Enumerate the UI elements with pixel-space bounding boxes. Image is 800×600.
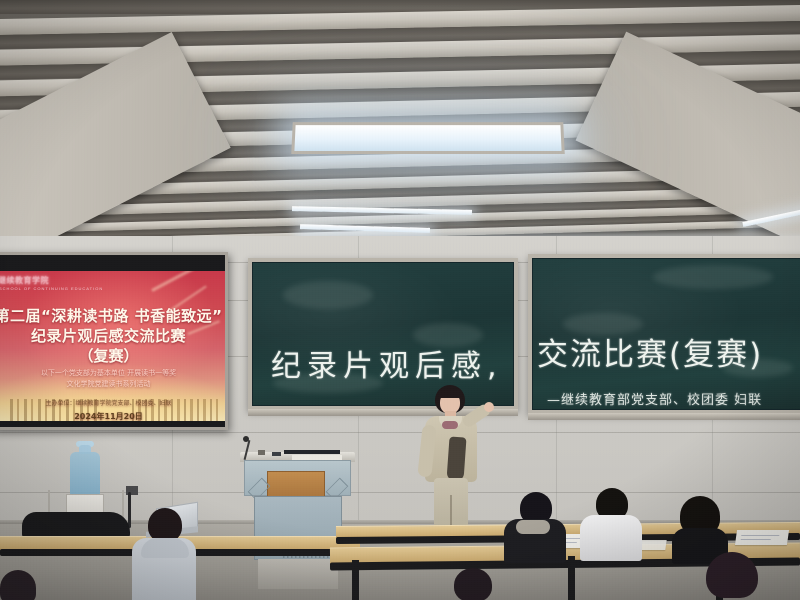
student-head [706, 552, 758, 598]
student-head [0, 570, 36, 600]
student-head [148, 508, 182, 542]
podium-notebook [292, 455, 342, 460]
ceiling [0, 0, 800, 252]
podium-clicker [258, 450, 265, 455]
slide-title-line-2: 纪录片观后感交流比赛 [0, 325, 225, 346]
microphone-icon [243, 436, 249, 442]
blackboard-right-frame: 交流比赛(复赛) —继续教育部党支部、校团委 妇联 [528, 254, 800, 414]
presenter-bag [446, 436, 466, 481]
desk-leg-2 [568, 556, 575, 600]
presenter-scarf [442, 421, 458, 429]
paper-2 [735, 530, 789, 545]
chalk-tray-right [528, 413, 800, 420]
blackboard-right-subtitle: —继续教育部党支部、校团委 妇联 [547, 389, 762, 408]
student-head [454, 568, 492, 600]
power-cable [128, 492, 131, 528]
projection-screen: 继续教育学院 SCHOOL OF CONTINUING EDUCATION 第二… [0, 252, 228, 430]
slide-title-line-1: 第二届“深耕读书路 书香能致远” [0, 305, 225, 326]
blackboard-right: 交流比赛(复赛) —继续教育部党支部、校团委 妇联 [532, 258, 800, 410]
podium-base [258, 559, 338, 589]
student-scarf [516, 520, 550, 534]
student-hood [141, 538, 189, 558]
student-body [580, 515, 642, 561]
podium-paper-stack [284, 450, 340, 454]
student-5 [438, 568, 508, 600]
presenter-right-hand [484, 402, 494, 412]
student-3 [580, 488, 642, 560]
blackboard-left-text: 纪录片观后感, [271, 341, 503, 385]
podium-body [244, 460, 351, 496]
presenter [412, 385, 492, 540]
slide-logo: 继续教育学院 [0, 275, 49, 286]
desk-leg-1 [352, 560, 359, 600]
student-6 [690, 552, 772, 600]
podium [240, 452, 355, 592]
slide-subtitle-line-1: 以下一个党支部为基本单位 开展读书一等奖 [0, 368, 225, 378]
student-2 [504, 492, 566, 562]
slide-title-line-3: （复赛） [0, 345, 225, 366]
slide-subtitle-line-2: 文化学院党建读书系列活动 [0, 379, 225, 389]
student-laptop [132, 508, 196, 600]
presenter-fringe [437, 388, 463, 398]
slide-organizer: 主办单位：继续教育学院党支部、校团委、妇联 [0, 398, 225, 407]
podium-remote [272, 452, 281, 456]
slide-logo-subtext: SCHOOL OF CONTINUING EDUCATION [0, 286, 103, 291]
presentation-slide: 继续教育学院 SCHOOL OF CONTINUING EDUCATION 第二… [0, 271, 225, 421]
ceiling-panel-light [291, 122, 565, 154]
lecture-hall-photo: 继续教育学院 SCHOOL OF CONTINUING EDUCATION 第二… [0, 0, 800, 600]
slide-date: 2024年11月20日 [0, 411, 225, 421]
blackboard-right-text: 交流比赛(复赛) [537, 329, 763, 374]
student-7 [0, 570, 58, 600]
